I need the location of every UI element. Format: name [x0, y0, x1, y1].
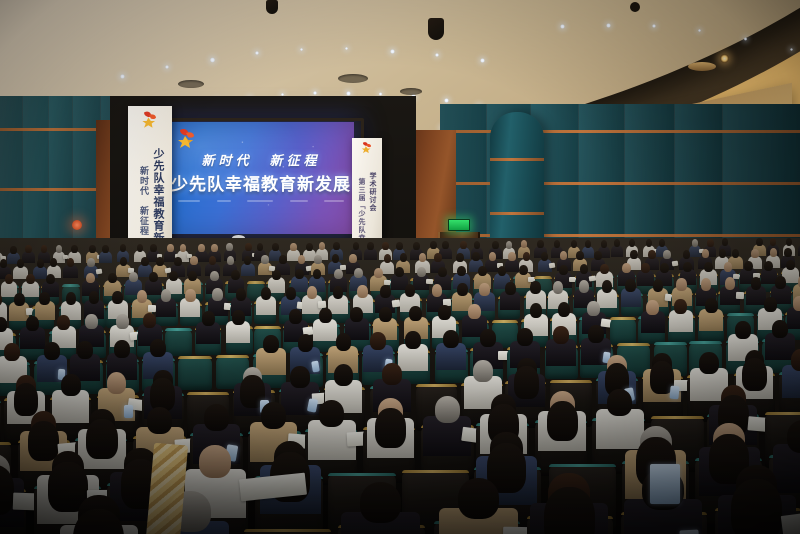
projection-screen: 新时代 新征程 少先队幸福教育新发展 — [168, 122, 354, 234]
attendee-head — [26, 316, 39, 331]
attendee-head — [541, 252, 548, 261]
attendee-head — [245, 243, 252, 251]
attendee-head — [370, 332, 386, 350]
attendee-head — [202, 311, 215, 326]
attendee-head — [775, 276, 786, 289]
ceiling-sensor — [630, 2, 640, 12]
attendee-head — [298, 255, 305, 264]
attendee-head — [438, 305, 451, 320]
attendee-head — [770, 248, 777, 257]
ceiling-downlight — [120, 74, 125, 79]
attendee-head — [579, 280, 590, 293]
attendee-head — [141, 257, 148, 266]
attendee-head — [319, 400, 344, 427]
attendee-head — [443, 330, 459, 348]
attendee-head — [86, 273, 95, 284]
attendee-head — [559, 265, 568, 276]
attendee-head — [332, 254, 339, 263]
attendee-head — [357, 285, 368, 298]
attendee-head — [290, 243, 297, 251]
attendee-head — [607, 389, 632, 416]
attendee-head — [108, 273, 117, 284]
attendee-head — [161, 289, 172, 302]
attendee-head — [460, 241, 467, 249]
theater-seat[interactable] — [244, 529, 330, 534]
attendee-long-hair — [547, 401, 578, 442]
attendee-head — [772, 320, 788, 338]
attendee-head — [508, 252, 515, 261]
attendee-head — [400, 253, 407, 262]
ceiling-vent-1 — [338, 74, 368, 83]
attendee-head — [14, 293, 25, 306]
seat-trim — [165, 328, 192, 331]
attendee-head — [405, 284, 416, 297]
seat-trim — [492, 320, 519, 323]
attendee-head — [85, 314, 98, 329]
audience-house — [0, 238, 800, 534]
attendee-head — [648, 250, 655, 259]
attendee-head — [395, 267, 404, 278]
attendee-head — [435, 396, 460, 423]
attendee-head — [600, 264, 609, 275]
attendee-head — [25, 245, 32, 253]
attendee-head — [188, 271, 197, 282]
attendee-head — [468, 304, 481, 319]
attendee-head — [663, 250, 670, 259]
attendee-head — [382, 363, 402, 385]
attendee-head — [261, 402, 286, 429]
attendee-head — [683, 262, 692, 273]
seat-trim — [689, 341, 722, 344]
attendee-head — [319, 308, 332, 323]
attendee-head — [653, 279, 664, 292]
attendee-head — [231, 270, 240, 281]
attendee-head — [646, 300, 659, 315]
screen-subheadline: 少先队幸福教育新发展 — [168, 170, 354, 195]
attendee-long-hair — [150, 378, 175, 411]
attendee-head — [232, 310, 245, 325]
seat-trim — [550, 380, 591, 383]
attendee-head — [707, 239, 714, 247]
attendee-head — [143, 313, 156, 328]
attendee-head — [334, 269, 343, 280]
attendee-head — [492, 241, 499, 249]
seat-trim — [416, 384, 457, 387]
attendee-head — [478, 266, 487, 277]
attendee-long-hair — [28, 421, 59, 462]
ceiling-downlight — [379, 92, 383, 96]
handout-paper — [318, 301, 327, 308]
attendee-head — [517, 328, 533, 346]
attendee-head — [719, 249, 726, 258]
seat-trim — [617, 343, 650, 346]
attendee-head — [472, 252, 479, 261]
attendee-head — [489, 252, 496, 261]
attendee-head — [150, 244, 157, 252]
attendee-head — [185, 289, 196, 302]
ceiling-downlight — [165, 65, 169, 69]
attendee-long-hair — [731, 479, 782, 534]
seat-trim — [328, 473, 395, 476]
attendee-head — [77, 341, 93, 359]
attendee-head — [149, 272, 158, 283]
ceiling-downlight — [435, 53, 439, 57]
attendee-long-hair — [14, 383, 39, 416]
attendee-head — [37, 259, 44, 268]
attendee-long-hair — [0, 465, 14, 515]
attendee-head — [174, 257, 181, 266]
attendee-head — [676, 278, 687, 291]
attendee-head — [417, 267, 426, 278]
attendee-head — [702, 249, 709, 258]
attendee-head — [0, 259, 7, 268]
attendee-head — [505, 282, 516, 295]
emergency-indicator-light — [72, 220, 82, 230]
handout-paper — [549, 262, 555, 267]
attendee-head — [350, 307, 363, 322]
attendee-head — [479, 283, 490, 296]
torch-star-emblem — [139, 110, 161, 132]
attendee-head — [298, 334, 314, 352]
torch-star-emblem — [360, 141, 375, 156]
attendee-head — [432, 284, 443, 297]
attendee-head — [147, 407, 172, 434]
attendee-head — [114, 340, 130, 358]
attendee-head — [622, 263, 631, 274]
seat-trim — [534, 276, 552, 279]
attendee-head — [354, 268, 363, 279]
attendee-head — [112, 291, 123, 304]
attendee-head — [150, 339, 166, 357]
attendee-head — [169, 271, 178, 282]
attendee-head — [319, 242, 326, 250]
handout-paper — [391, 300, 400, 307]
attendee-head — [625, 279, 636, 292]
attendee-head — [313, 269, 322, 280]
attendee-head — [764, 297, 777, 312]
seat-trim — [727, 313, 754, 316]
attendee-head — [380, 285, 391, 298]
seat-trim — [0, 400, 1, 403]
attendee-head — [295, 269, 304, 280]
attendee-head — [457, 266, 466, 277]
attendee-long-hair — [742, 358, 767, 391]
attendee-head — [129, 272, 138, 283]
attendee-head — [272, 243, 279, 251]
attendee-head — [211, 244, 218, 252]
attendee-head — [705, 298, 718, 313]
attendee-head — [156, 257, 163, 266]
attendee-head — [674, 299, 687, 314]
smartphone-screen — [311, 361, 320, 373]
attendee-head — [630, 250, 637, 259]
attendee-long-hair — [375, 408, 406, 449]
attendee-head — [39, 292, 50, 305]
attendee-head — [614, 239, 621, 247]
attendee-long-hair — [544, 487, 595, 534]
attendee-head — [594, 251, 601, 260]
attendee-head — [660, 263, 669, 274]
attendee-head — [725, 277, 736, 290]
seat-trim — [0, 442, 11, 445]
seat-trim — [610, 317, 637, 320]
attendee-head — [576, 251, 583, 260]
attendee-head — [457, 283, 468, 296]
handout-paper — [95, 268, 101, 273]
attendee-head — [382, 242, 389, 250]
auditorium-photo: 新时代 新征程 少先队幸福教育新发展 少先队幸福教育新发展 新时代 新征程 学术… — [0, 0, 800, 534]
attendee-head — [724, 262, 733, 273]
handout-paper — [780, 512, 800, 534]
attendee-head — [374, 268, 383, 279]
attendee-head — [585, 240, 592, 248]
attendee-head — [553, 326, 569, 344]
ceiling-vent-2 — [400, 88, 422, 95]
attendee-head — [722, 238, 729, 246]
screen-footnotes — [178, 200, 344, 202]
attendee-head — [558, 302, 571, 317]
attendee-head — [419, 253, 426, 262]
attendee-head — [286, 287, 297, 300]
attendee-head — [306, 243, 313, 251]
ceiling-downlight — [560, 24, 565, 29]
attendee-head — [4, 343, 20, 361]
seat-trim — [62, 284, 80, 287]
banner-left-sub-text: 新时代 新征程 — [137, 166, 150, 236]
attendee-head — [56, 245, 63, 253]
seat-trim — [402, 470, 469, 473]
attendee-head — [602, 280, 613, 293]
attendee-head — [405, 331, 421, 349]
attendee-head — [353, 242, 360, 250]
ceiling-downlight — [255, 51, 259, 55]
exit-sign — [448, 219, 470, 231]
attendee-head — [209, 256, 216, 265]
attendee-head — [732, 249, 739, 258]
attendee-head — [456, 253, 463, 262]
attendee-head — [120, 244, 127, 252]
attendee-long-hair — [514, 366, 539, 399]
attendee-head — [770, 238, 777, 246]
attendee-head — [523, 252, 530, 261]
attendee-head — [704, 262, 713, 273]
attendee-head — [744, 261, 753, 272]
attendee-head — [120, 257, 127, 266]
attendee-head — [89, 291, 100, 304]
attendee-head — [641, 263, 650, 274]
attendee-head — [210, 271, 219, 282]
attendee-head — [333, 242, 340, 250]
attendee-head — [44, 342, 60, 360]
ceiling-speaker-1 — [428, 18, 444, 40]
attendee-head — [519, 265, 528, 276]
attendee-head — [537, 240, 544, 248]
attendee-head — [735, 321, 751, 339]
attendee-head — [683, 250, 690, 259]
attendee-head — [137, 290, 148, 303]
attendee-head — [10, 246, 17, 254]
attendee-head — [263, 335, 279, 353]
attendee-head — [66, 292, 77, 305]
seat-trim — [247, 281, 265, 284]
seat-trim — [187, 392, 228, 395]
seat-trim — [765, 412, 800, 415]
attendee-head — [137, 244, 144, 252]
handout-paper — [671, 260, 677, 265]
theater-seat[interactable] — [610, 317, 637, 346]
attendee-head — [434, 253, 441, 262]
attendee-head — [442, 241, 449, 249]
attendee-head — [480, 329, 496, 347]
screen-headline: 新时代 新征程 — [168, 150, 354, 169]
attendee-head — [279, 255, 286, 264]
attendee-head — [588, 325, 604, 343]
attendee-head — [167, 244, 174, 252]
smartphone-screen — [679, 530, 699, 534]
attendee-head — [336, 333, 352, 351]
theater-seat[interactable] — [178, 356, 211, 390]
attendee-head — [289, 309, 302, 324]
seat-trim — [654, 342, 687, 345]
attendee-head — [198, 244, 205, 252]
attendee-head — [226, 243, 233, 251]
attendee-head — [204, 404, 229, 431]
attendee-head — [764, 261, 773, 272]
attendee-head — [261, 287, 272, 300]
attendee-head — [756, 238, 763, 246]
attendee-head — [71, 245, 78, 253]
attendee-head — [87, 258, 94, 267]
attendee-head — [50, 258, 57, 267]
theater-seat[interactable] — [0, 400, 1, 446]
attendee-head — [116, 314, 129, 329]
attendee-head — [236, 288, 247, 301]
attendee-head — [5, 274, 14, 285]
smartphone-screen — [124, 405, 133, 418]
ceiling-downlight — [390, 49, 395, 54]
attendee-head — [379, 307, 392, 322]
ceiling-downlight — [652, 24, 656, 28]
attendee-head — [699, 352, 719, 374]
attendee-head — [560, 251, 567, 260]
attendee-head — [409, 306, 422, 321]
attendee-head — [227, 256, 234, 265]
attendee-head — [57, 315, 70, 330]
seat-trim — [549, 464, 616, 467]
attendee-head — [530, 281, 541, 294]
attendee-head — [334, 364, 354, 386]
attendee-head — [458, 478, 499, 519]
attendee-head — [41, 245, 48, 253]
attendee-head — [212, 288, 223, 301]
ceiling-fixture-right — [688, 62, 716, 71]
ceiling-downlight — [313, 91, 316, 94]
attendee-head — [751, 249, 758, 258]
attendee-head — [784, 248, 791, 257]
ceiling-downlight — [744, 37, 747, 40]
attendee-head — [367, 242, 374, 250]
attendee-head — [587, 301, 600, 316]
seat-trim — [651, 416, 703, 419]
attendee-head — [190, 256, 197, 265]
smartphone-screen — [650, 464, 680, 504]
ceiling-speaker-2 — [266, 0, 278, 14]
attendee-head — [438, 267, 447, 278]
banner-right-main-text: 学术研讨会 — [368, 172, 378, 212]
attendee-head — [430, 241, 437, 249]
ceiling-downlight — [346, 91, 351, 96]
attendee-head — [793, 296, 800, 311]
attendee-head — [473, 360, 493, 382]
attendee-head — [396, 242, 403, 250]
ceiling-vent-3 — [178, 80, 204, 88]
attendee-head — [791, 349, 800, 371]
attendee-head — [553, 281, 564, 294]
attendee-head — [307, 286, 318, 299]
attendee-head — [701, 278, 712, 291]
attendee-head — [349, 254, 356, 263]
attendee-head — [498, 266, 507, 277]
attendee-head — [17, 259, 24, 268]
attendee-long-hair — [86, 419, 117, 460]
seat-trim — [254, 326, 281, 329]
smartphone-screen — [669, 386, 679, 400]
attendee-head — [786, 260, 795, 271]
attendee-head — [261, 255, 268, 264]
attendee-head — [290, 366, 310, 388]
attendee-head — [89, 245, 96, 253]
attendee-head — [530, 303, 543, 318]
attendee-head — [26, 274, 35, 285]
attendee-head — [629, 239, 636, 247]
attendee-head — [554, 240, 561, 248]
attendee-head — [580, 264, 589, 275]
seat-trim — [216, 355, 249, 358]
attendee-head — [360, 482, 401, 523]
attendee-head — [61, 374, 81, 396]
attendee-head — [199, 445, 231, 478]
attendee-head — [272, 270, 281, 281]
attendee-head — [102, 245, 109, 253]
attendee-head — [244, 256, 251, 265]
attendee-head — [107, 372, 127, 394]
attendee-head — [384, 254, 391, 263]
seat-trim — [244, 529, 330, 532]
attendee-head — [46, 274, 55, 285]
attendee-head — [67, 258, 74, 267]
seat-trim — [178, 356, 211, 359]
attendee-head — [751, 277, 762, 290]
attendee-head — [314, 255, 321, 264]
attendee-head — [333, 286, 344, 299]
attendee-head — [413, 242, 420, 250]
